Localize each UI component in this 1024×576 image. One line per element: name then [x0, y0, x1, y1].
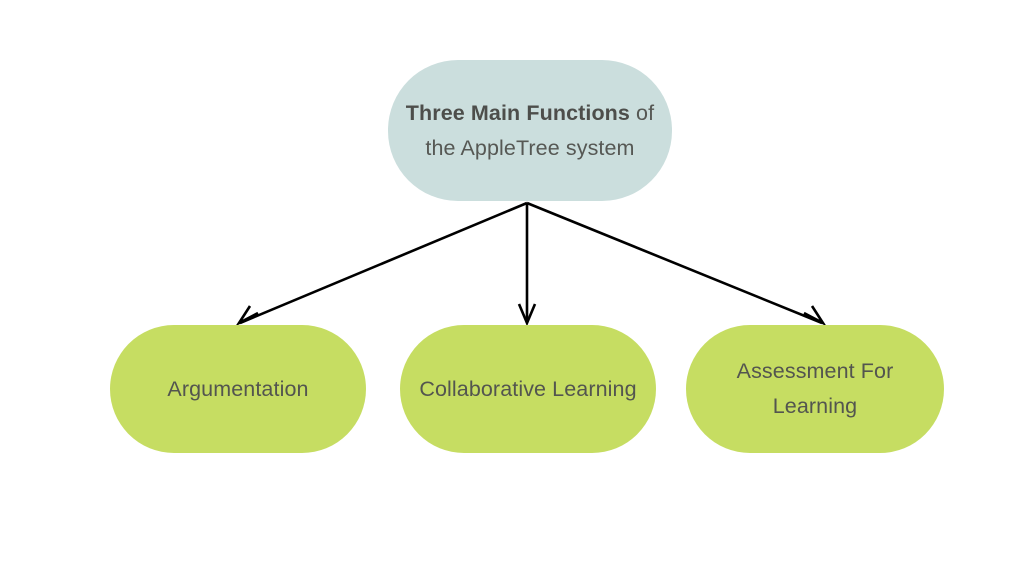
leaf-node-argumentation-label: Argumentation	[157, 372, 318, 407]
arrow-to-argumentation-head	[239, 306, 258, 323]
root-node-subtitle: the AppleTree system	[425, 136, 634, 160]
root-node-label: Three Main Functions of the AppleTree sy…	[392, 96, 668, 166]
leaf-node-assessment-for-learning-line-2: Learning	[773, 394, 857, 418]
leaf-node-assessment-for-learning-line-1: Assessment For	[737, 359, 894, 383]
arrow-to-assessment-for-learning-line	[527, 203, 822, 323]
root-node-title-rest: of	[630, 101, 654, 125]
root-node-title-bold: Three Main Functions	[406, 101, 630, 125]
root-node-three-main-functions: Three Main Functions of the AppleTree sy…	[388, 60, 672, 201]
leaf-node-assessment-for-learning: Assessment For Learning	[686, 325, 944, 453]
arrow-to-assessment-for-learning-head	[804, 306, 823, 323]
arrow-to-argumentation-line	[240, 203, 527, 323]
diagram-canvas: Three Main Functions of the AppleTree sy…	[0, 0, 1024, 576]
leaf-node-collaborative-learning-label: Collaborative Learning	[409, 372, 646, 407]
leaf-node-collaborative-learning: Collaborative Learning	[400, 325, 656, 453]
leaf-node-argumentation: Argumentation	[110, 325, 366, 453]
arrow-to-collaborative-learning-head	[519, 304, 535, 323]
leaf-node-assessment-for-learning-label: Assessment For Learning	[727, 354, 904, 424]
